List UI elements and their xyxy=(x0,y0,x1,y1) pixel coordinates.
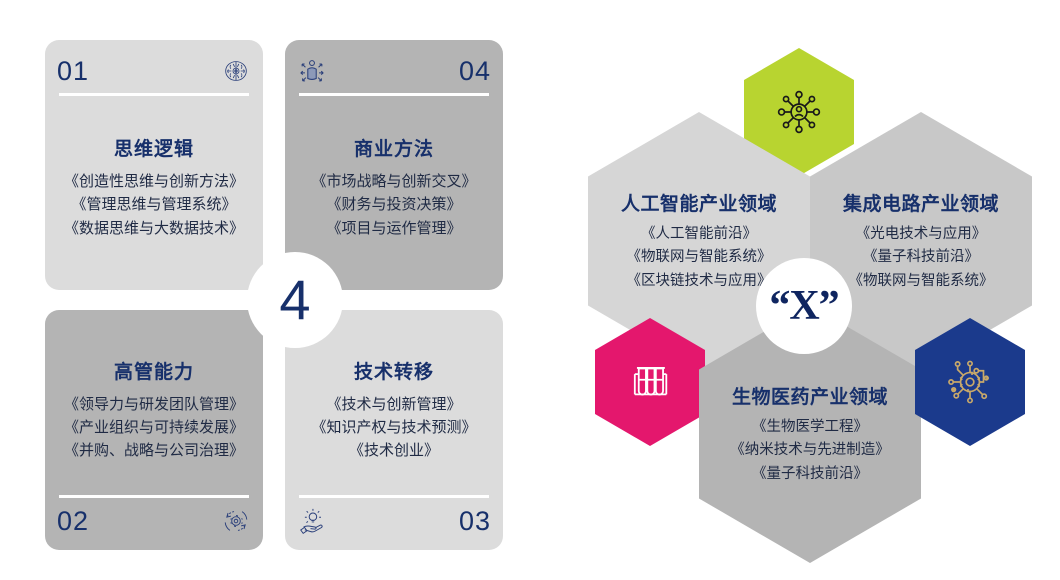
card-01-item: 《数据思维与大数据技术》 xyxy=(64,217,244,240)
hexagon-bio-title: 生物医药产业领域 xyxy=(732,382,888,409)
hexagon-panel: 人工智能产业领域 《人工智能前沿》 《物联网与智能系统》 《区块链技术与应用》 … xyxy=(560,0,1060,580)
hexagon-bio-item: 《纳米技术与先进制造》 xyxy=(730,439,890,462)
card-02-item: 《产业组织与可持续发展》 xyxy=(64,416,244,439)
cards-panel: 01 思维逻辑 《创造性思维与创新方法》 《管理思维与管理系统》 xyxy=(0,0,560,580)
center-number: 4 xyxy=(279,272,310,328)
card-03-number: 03 xyxy=(459,508,491,535)
test-tubes-icon xyxy=(623,355,677,409)
hexagon-ic-item: 《量子科技前沿》 xyxy=(863,246,979,269)
brain-icon xyxy=(221,56,251,86)
card-01-number: 01 xyxy=(57,58,89,85)
center-number-badge: 4 xyxy=(247,252,343,348)
card-04-item: 《市场战略与创新交叉》 xyxy=(311,170,476,193)
card-03-title: 技术转移 xyxy=(354,357,434,384)
hexagon-ic-item: 《物联网与智能系统》 xyxy=(849,270,994,293)
card-03-item: 《知识产权与技术预测》 xyxy=(311,416,476,439)
card-02-number: 02 xyxy=(57,508,89,535)
circuit-gear-icon xyxy=(943,355,997,409)
card-04-item: 《项目与运作管理》 xyxy=(326,217,461,240)
card-03-divider xyxy=(299,495,489,498)
card-01-title: 思维逻辑 xyxy=(114,134,194,161)
card-02[interactable]: 高管能力 《领导力与研发团队管理》 《产业组织与可持续发展》 《并购、战略与公司… xyxy=(45,310,263,550)
hexagon-bio-item: 《量子科技前沿》 xyxy=(752,463,868,486)
card-03-body: 技术转移 《技术与创新管理》 《知识产权与技术预测》 《技术创业》 xyxy=(297,324,491,495)
hexagon-ic-item: 《光电技术与应用》 xyxy=(856,223,987,246)
card-01-header: 01 xyxy=(57,54,251,88)
hexagon-ai-title: 人工智能产业领域 xyxy=(621,189,777,216)
card-02-title: 高管能力 xyxy=(114,357,194,384)
card-01-body: 思维逻辑 《创造性思维与创新方法》 《管理思维与管理系统》 《数据思维与大数据技… xyxy=(57,96,251,278)
card-04-body: 商业方法 《市场战略与创新交叉》 《财务与投资决策》 《项目与运作管理》 xyxy=(297,96,491,278)
hexagon-bio-content: 生物医药产业领域 《生物医学工程》 《纳米技术与先进制造》 《量子科技前沿》 xyxy=(699,382,921,486)
card-04-header: 04 xyxy=(297,54,491,88)
lightbulb-hand-icon xyxy=(297,506,327,536)
hexagon-bio-item: 《生物医学工程》 xyxy=(752,416,868,439)
card-02-item: 《并购、战略与公司治理》 xyxy=(64,439,244,462)
card-04-number: 04 xyxy=(459,58,491,85)
card-01[interactable]: 01 思维逻辑 《创造性思维与创新方法》 《管理思维与管理系统》 xyxy=(45,40,263,290)
people-network-icon xyxy=(772,85,826,139)
card-04-item: 《财务与投资决策》 xyxy=(326,193,461,216)
person-expand-icon xyxy=(297,56,327,86)
card-02-body: 高管能力 《领导力与研发团队管理》 《产业组织与可持续发展》 《并购、战略与公司… xyxy=(57,324,251,495)
card-04[interactable]: 04 商业方法 《市场战略与创新交叉》 《财务与投资决策》 《项目与运作管理》 xyxy=(285,40,503,290)
card-03[interactable]: 技术转移 《技术与创新管理》 《知识产权与技术预测》 《技术创业》 03 xyxy=(285,310,503,550)
card-03-footer: 03 xyxy=(297,504,491,538)
card-03-item: 《技术与创新管理》 xyxy=(326,393,461,416)
hexagon-ai-item: 《物联网与智能系统》 xyxy=(627,246,772,269)
card-01-item: 《管理思维与管理系统》 xyxy=(71,193,236,216)
card-03-item: 《技术创业》 xyxy=(349,439,439,462)
card-04-title: 商业方法 xyxy=(354,134,434,161)
card-02-item: 《领导力与研发团队管理》 xyxy=(64,393,244,416)
hexagon-ai-item: 《区块链技术与应用》 xyxy=(627,270,772,293)
card-02-footer: 02 xyxy=(57,504,251,538)
hexagon-ai-item: 《人工智能前沿》 xyxy=(641,223,757,246)
gear-cycle-icon xyxy=(221,506,251,536)
card-02-divider xyxy=(59,495,249,498)
hexagon-ic-title: 集成电路产业领域 xyxy=(843,189,999,216)
center-x-label: “X” xyxy=(769,285,838,327)
center-x-badge: “X” xyxy=(756,258,852,354)
card-01-item: 《创造性思维与创新方法》 xyxy=(64,170,244,193)
